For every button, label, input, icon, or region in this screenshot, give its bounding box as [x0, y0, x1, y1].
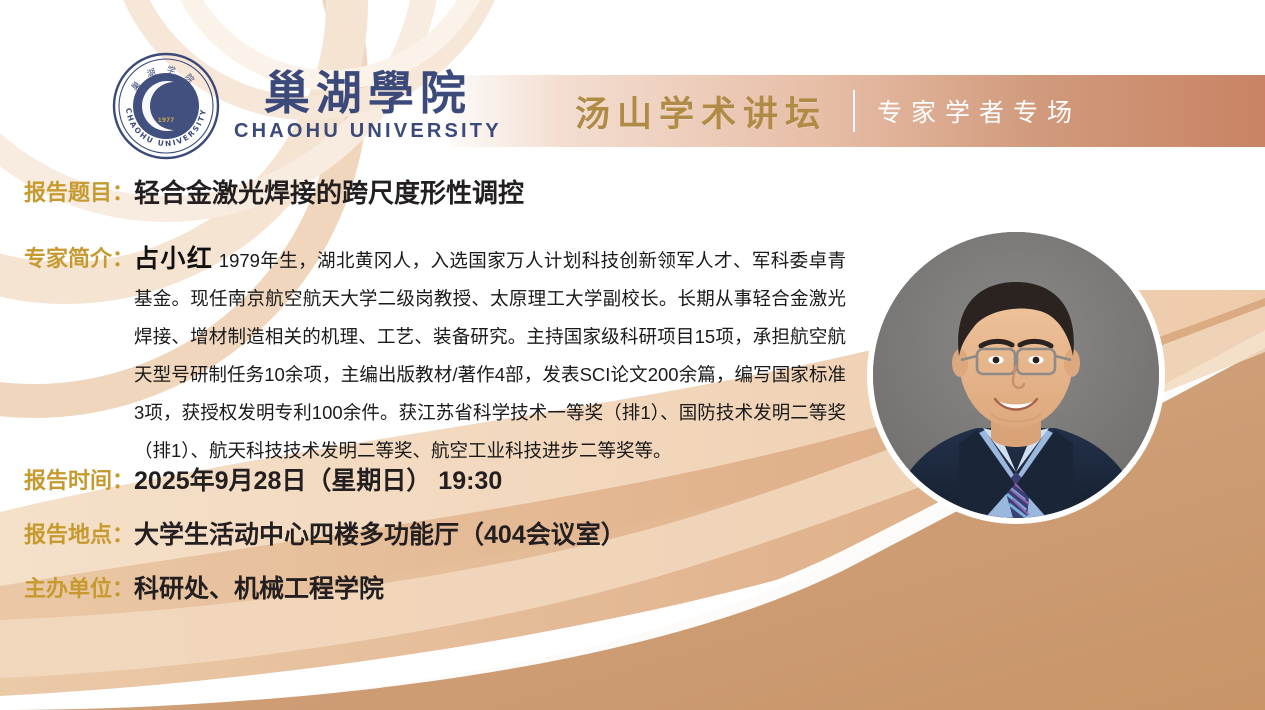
- lecture-time-row: 报告时间： 2025年9月28日（星期日） 19:30: [24, 464, 502, 498]
- forum-banner-title: 汤山学术讲坛: [575, 86, 827, 137]
- lecture-place-row: 报告地点： 大学生活动中心四楼多功能厅（404会议室）: [24, 518, 626, 552]
- university-logo: 1977 CHAOHU UNIVERSITY 巢湖学院 巢湖學院 CHAOHU …: [112, 52, 502, 160]
- university-name-en: CHAOHU UNIVERSITY: [234, 120, 502, 143]
- svg-text:1977: 1977: [158, 117, 175, 124]
- speaker-name: 占小红: [134, 245, 213, 273]
- lecture-time-label: 报告时间：: [24, 464, 134, 498]
- lecture-host-value: 科研处、机械工程学院: [134, 572, 384, 606]
- lecture-time-value: 2025年9月28日（星期日） 19:30: [134, 464, 502, 498]
- speaker-bio-row: 专家简介： 占小红 1979年生，湖北黄冈人，入选国家万人计划科技创新领军人才、…: [24, 240, 884, 470]
- lecture-title-row: 报告题目： 轻合金激光焊接的跨尺度形性调控: [24, 176, 524, 210]
- vertical-divider-icon: [853, 90, 855, 132]
- forum-banner: 汤山学术讲坛 专家学者专场: [450, 75, 1265, 147]
- speaker-bio-text: 1979年生，湖北黄冈人，入选国家万人计划科技创新领军人才、军科委卓青基金。现任…: [134, 250, 846, 461]
- lecture-title-value: 轻合金激光焊接的跨尺度形性调控: [134, 176, 524, 210]
- speaker-bio-label: 专家简介：: [24, 240, 134, 278]
- poster-canvas: 汤山学术讲坛 专家学者专场 1977 CHAOHU UNIVERSITY: [0, 0, 1265, 710]
- lecture-place-value: 大学生活动中心四楼多功能厅（404会议室）: [134, 518, 626, 552]
- speaker-portrait-photo: [873, 232, 1159, 518]
- chaohu-university-seal-icon: 1977 CHAOHU UNIVERSITY 巢湖学院: [112, 52, 220, 160]
- lecture-host-label: 主办单位：: [24, 572, 134, 606]
- lecture-place-label: 报告地点：: [24, 518, 134, 552]
- speaker-bio-text-block: 占小红 1979年生，湖北黄冈人，入选国家万人计划科技创新领军人才、军科委卓青基…: [134, 240, 846, 470]
- lecture-title-label: 报告题目：: [24, 176, 134, 210]
- lecture-host-row: 主办单位： 科研处、机械工程学院: [24, 572, 384, 606]
- university-name-cn: 巢湖學院: [264, 69, 472, 117]
- forum-banner-subtitle: 专家学者专场: [877, 93, 1081, 129]
